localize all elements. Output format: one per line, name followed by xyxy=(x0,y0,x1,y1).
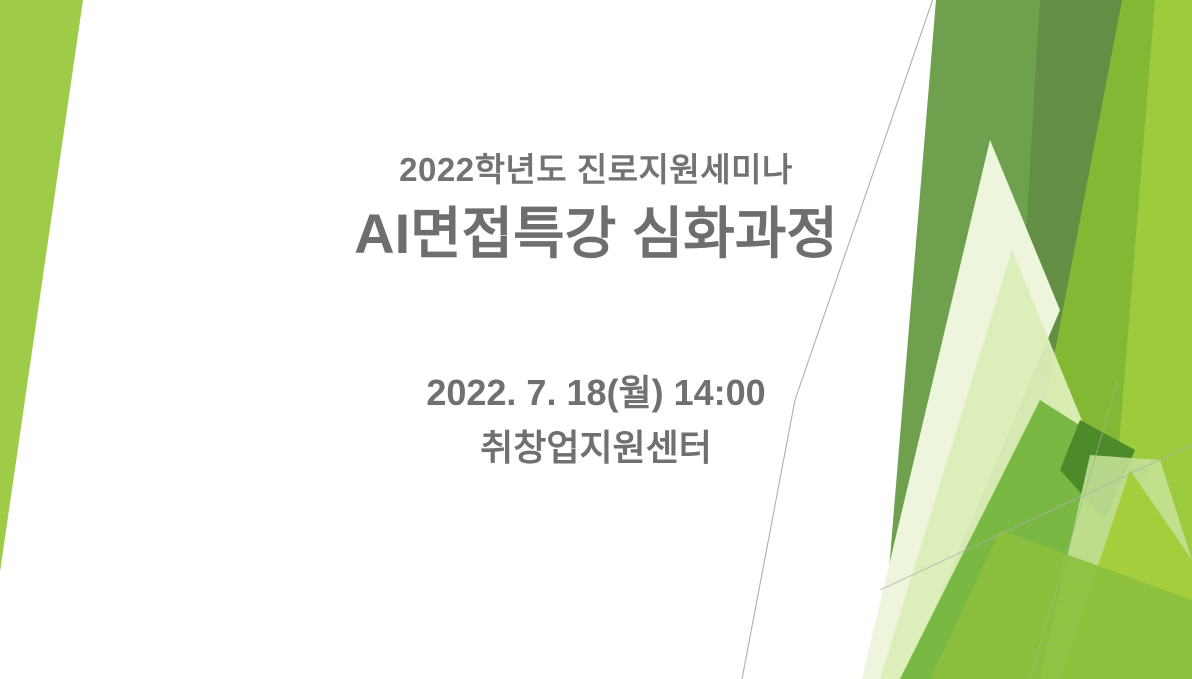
slide-datetime: 2022. 7. 18(월) 14:00 xyxy=(0,371,1192,414)
slide-content: 2022학년도 진로지원세미나 AI면접특강 심화과정 2022. 7. 18(… xyxy=(0,0,1192,679)
presentation-slide: 2022학년도 진로지원세미나 AI면접특강 심화과정 2022. 7. 18(… xyxy=(0,0,1192,679)
slide-venue: 취창업지원센터 xyxy=(0,426,1192,469)
page-title: AI면접특강 심화과정 xyxy=(0,202,1192,266)
slide-kicker: 2022학년도 진로지원세미나 xyxy=(0,151,1192,189)
